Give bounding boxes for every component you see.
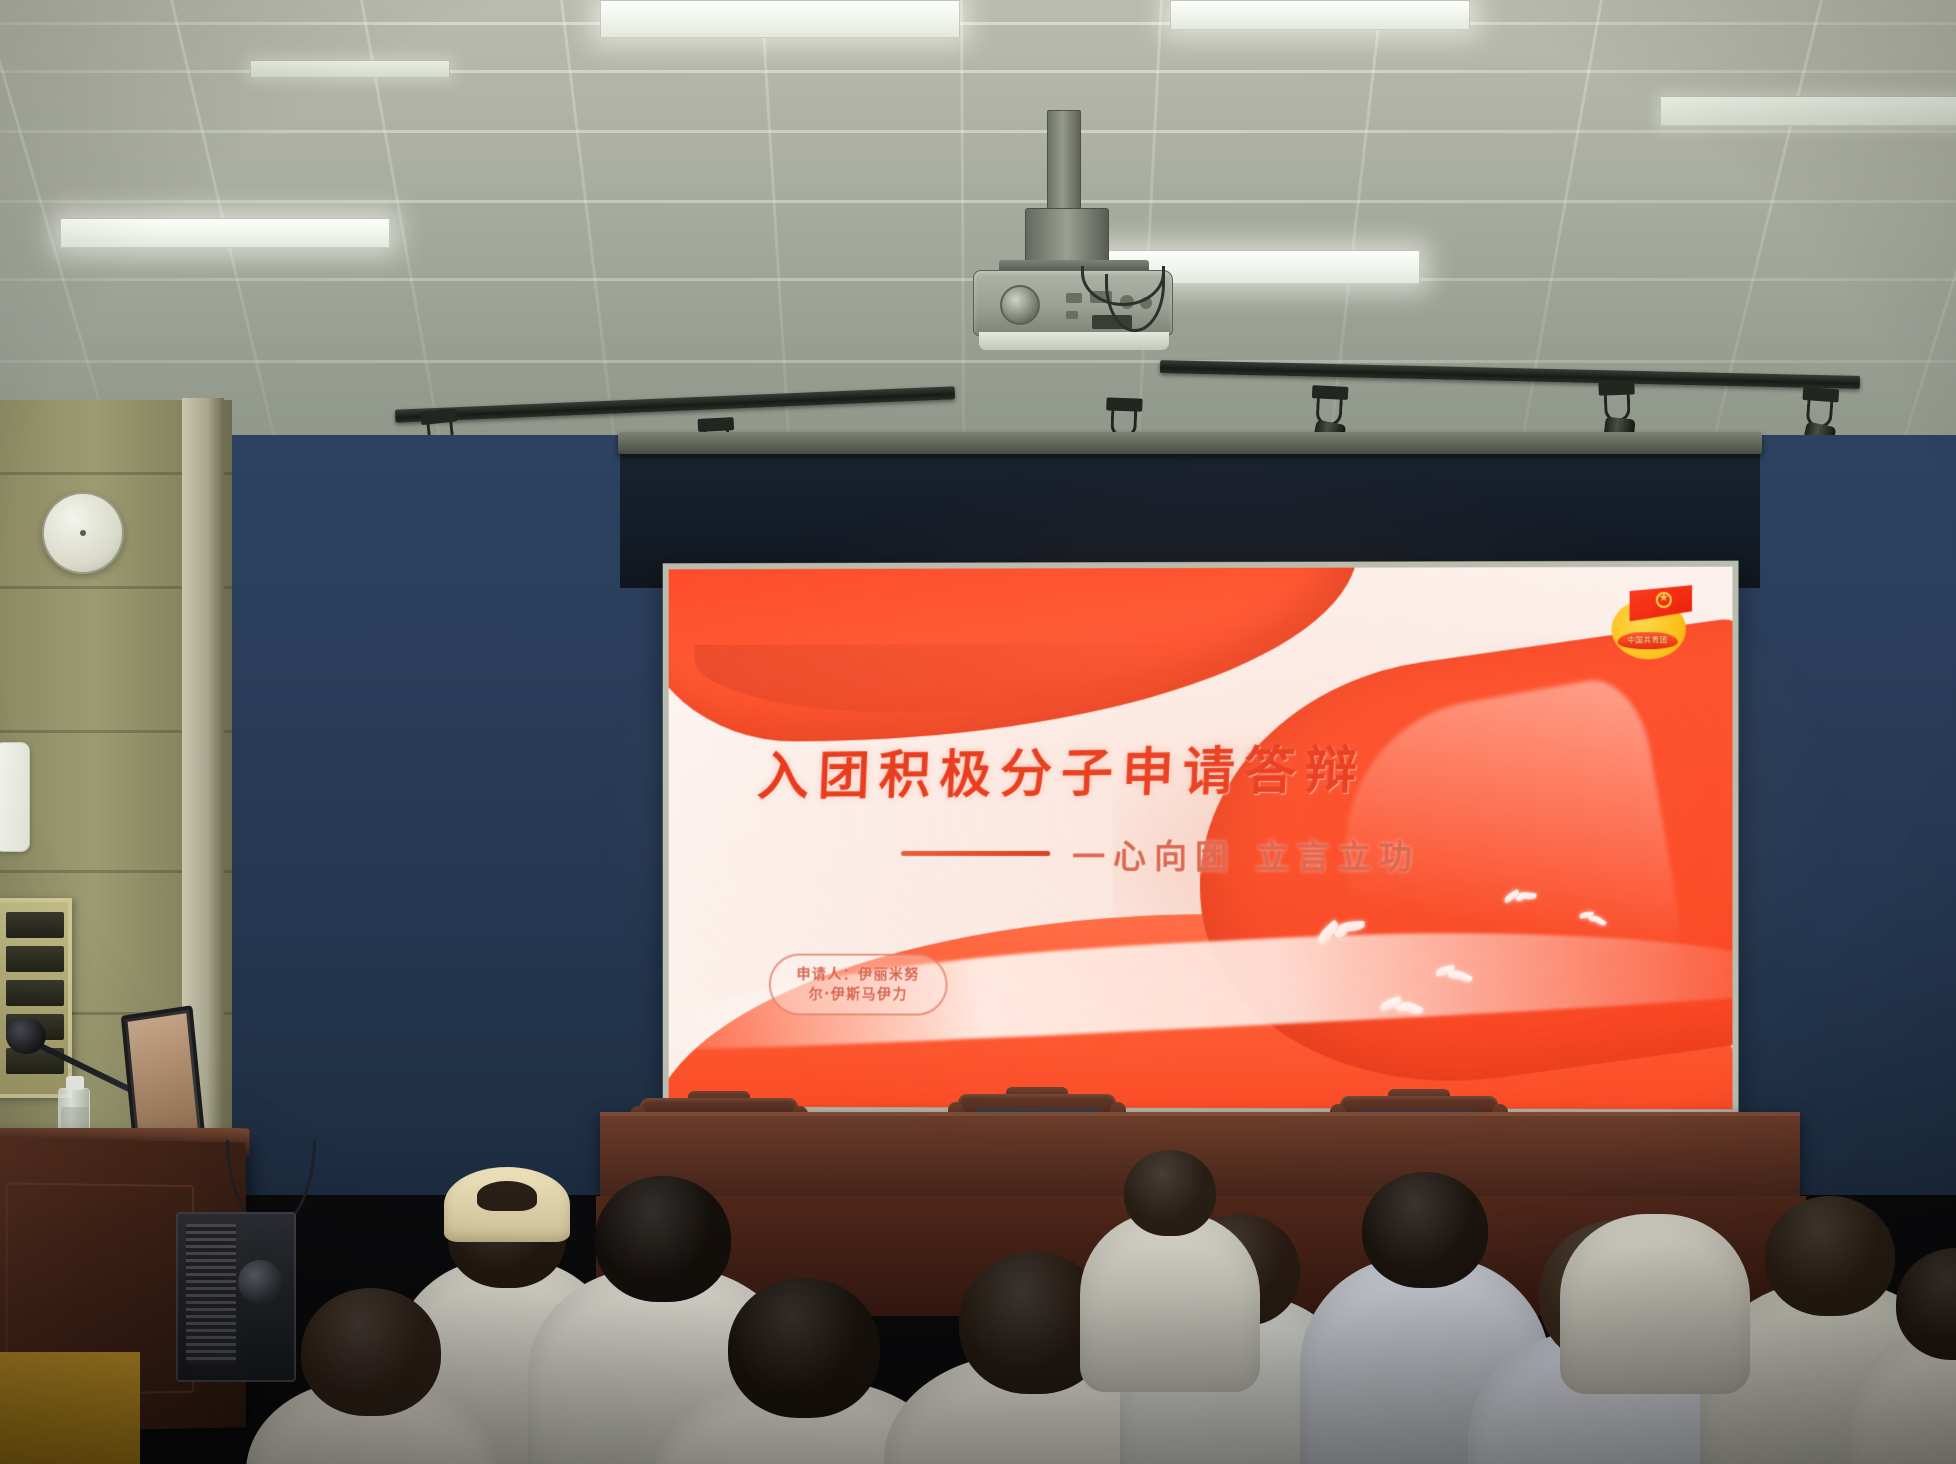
fluorescent-ceiling-light	[600, 0, 960, 38]
slide-subtitle: 一心向团 立言立功	[1072, 830, 1420, 878]
notice-slot	[6, 980, 64, 1006]
ceiling-grid-line	[0, 360, 1956, 363]
projection-screen: 中国共青团 入团积极分子申请答辩 一心向团 立言立功 申请人：伊丽米努 尔·伊斯…	[663, 561, 1739, 1116]
wall-clock	[42, 492, 124, 574]
fluorescent-ceiling-light	[250, 60, 450, 78]
applicant-name-badge: 申请人：伊丽米努 尔·伊斯马伊力	[769, 953, 948, 1016]
wall-switch-panel[interactable]	[0, 742, 30, 852]
emblem-star-icon	[1656, 592, 1672, 608]
subtitle-rule	[901, 851, 1050, 856]
fluorescent-ceiling-light	[60, 218, 390, 248]
ceiling-projector	[955, 110, 1185, 350]
notice-slot	[6, 912, 64, 938]
audience-head	[301, 1288, 441, 1416]
audience-head	[728, 1278, 880, 1418]
applicant-line-2: 尔·伊斯马伊力	[797, 984, 920, 1004]
screen-roller-housing	[618, 432, 1762, 454]
lecture-hall-photo: 中国共青团 入团积极分子申请答辩 一心向团 立言立功 申请人：伊丽米努 尔·伊斯…	[0, 0, 1956, 1464]
fluorescent-ceiling-light	[1170, 0, 1470, 30]
slide-subtitle-row: 一心向团 立言立功	[901, 830, 1647, 878]
projector-vent	[1066, 293, 1082, 303]
projector-underside	[979, 332, 1169, 350]
ceiling-grid-line	[0, 22, 1956, 25]
ceiling-grid-line	[1900, 0, 1956, 449]
applicant-line-1: 申请人：伊丽米努	[797, 964, 920, 984]
audience-torso	[1560, 1214, 1750, 1394]
floor-panel	[0, 1352, 140, 1464]
person-left-1	[246, 1288, 496, 1464]
person-back-2	[1560, 1148, 1750, 1420]
audience-head	[1606, 1148, 1704, 1240]
projector-lens	[1000, 285, 1040, 325]
emblem-band-text: 中国共青团	[1617, 632, 1677, 649]
audience-torso	[1080, 1212, 1260, 1392]
notice-slot	[6, 946, 64, 972]
communist-youth-league-emblem-icon: 中国共青团	[1611, 585, 1698, 659]
audience-head	[1124, 1150, 1216, 1236]
presentation-slide: 中国共青团 入团积极分子申请答辩 一心向团 立言立功 申请人：伊丽米努 尔·伊斯…	[669, 567, 1733, 1110]
person-far-right	[1846, 1248, 1956, 1464]
person-back-1	[1080, 1150, 1260, 1416]
microphone-head-icon	[6, 1018, 46, 1054]
speaker-grille	[186, 1224, 236, 1364]
projector-mount-pole	[1047, 110, 1081, 215]
wall-notice-board	[0, 898, 72, 1098]
projector-mount-collar	[1025, 208, 1109, 264]
slide-title: 入团积极分子申请答辩	[757, 725, 1590, 809]
projector-vent	[1066, 311, 1078, 319]
fluorescent-ceiling-light	[1660, 96, 1956, 126]
